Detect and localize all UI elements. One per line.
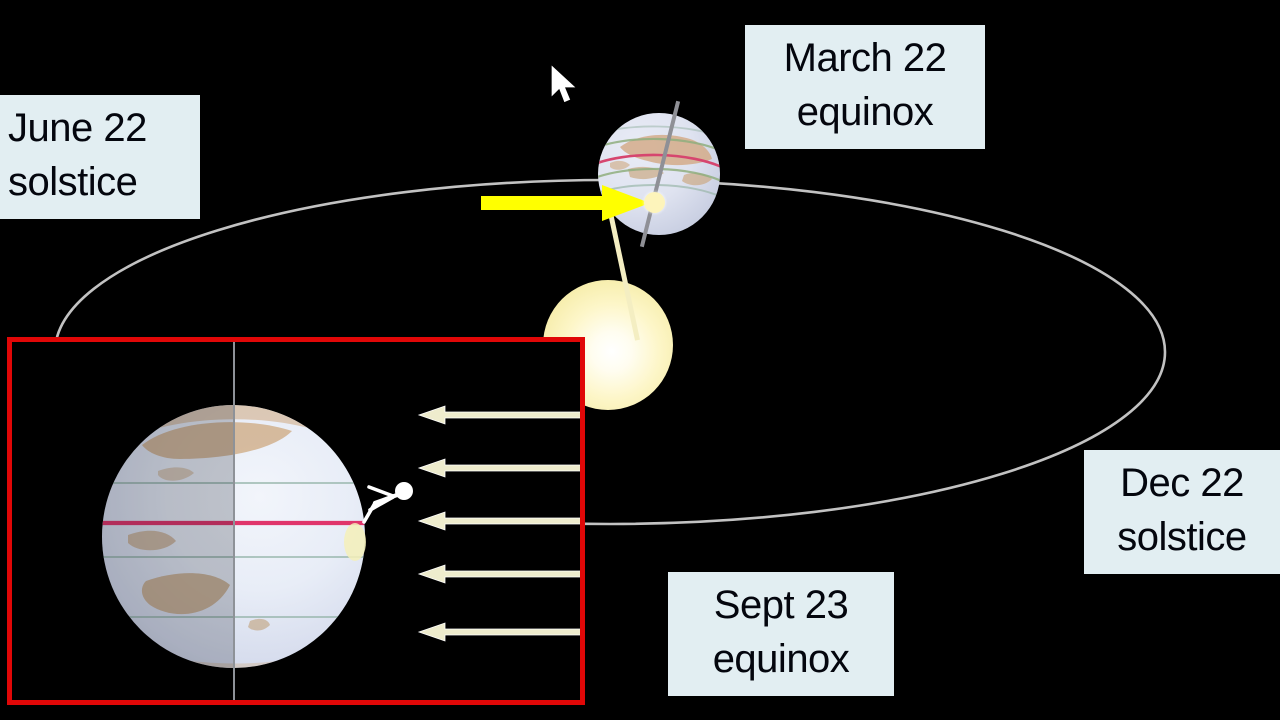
seasons-diagram-canvas: June 22 solstice March 22 equinox Dec 22… bbox=[0, 0, 1280, 720]
day-night-terminator-line bbox=[233, 341, 235, 705]
sunlight-ray-arrow-icon bbox=[417, 457, 585, 479]
inset-detail-panel bbox=[7, 337, 585, 705]
mouse-pointer-icon bbox=[548, 62, 582, 110]
sunlight-ray-arrow-icon bbox=[417, 621, 585, 643]
yellow-arrow-right-icon bbox=[478, 182, 653, 224]
stick-figure-icon bbox=[360, 470, 416, 536]
sunlight-ray-arrow-icon bbox=[417, 404, 585, 426]
sunlight-ray-arrow-icon bbox=[417, 563, 585, 585]
label-june-solstice: June 22 solstice bbox=[0, 95, 200, 219]
earth-night-side bbox=[102, 405, 233, 668]
label-dec-solstice: Dec 22 solstice bbox=[1084, 450, 1280, 574]
label-march-equinox: March 22 equinox bbox=[745, 25, 985, 149]
sunlight-ray-arrow-icon bbox=[417, 510, 585, 532]
observer-position-marker bbox=[644, 192, 665, 213]
label-sept-equinox: Sept 23 equinox bbox=[668, 572, 894, 696]
